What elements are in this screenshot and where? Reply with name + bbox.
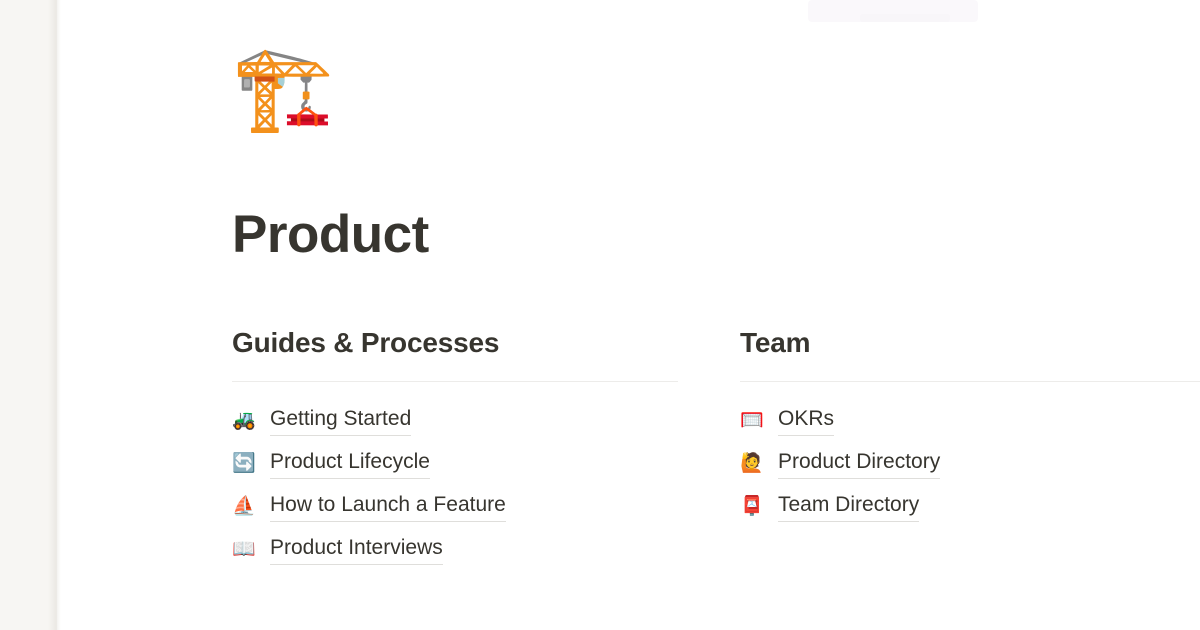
list-item[interactable]: ⛵ How to Launch a Feature xyxy=(232,485,678,528)
page-link-product-directory[interactable]: Product Directory xyxy=(778,448,940,478)
page-link-product-lifecycle[interactable]: Product Lifecycle xyxy=(270,448,430,478)
page-title: Product xyxy=(232,205,429,266)
column-team: Team 🥅 OKRs 🙋 Product Directory 📮 Team D… xyxy=(740,325,1200,528)
list-item[interactable]: 📮 Team Directory xyxy=(740,485,1200,528)
open-book-icon: 📖 xyxy=(232,540,252,559)
building-construction-crane-icon[interactable]: 🏗️ xyxy=(232,48,334,130)
page-link-okrs[interactable]: OKRs xyxy=(778,405,834,435)
counterclockwise-arrows-icon: 🔄 xyxy=(232,454,252,473)
list-item[interactable]: 🙋 Product Directory xyxy=(740,442,1200,485)
tractor-icon: 🚜 xyxy=(232,411,252,430)
column-guides-processes: Guides & Processes 🚜 Getting Started 🔄 P… xyxy=(232,325,678,571)
page-content: 🏗️ Product Guides & Processes 🚜 Getting … xyxy=(232,0,1200,630)
postbox-icon: 📮 xyxy=(740,497,760,516)
goal-net-icon: 🥅 xyxy=(740,411,760,430)
section-heading-guides: Guides & Processes xyxy=(232,325,678,360)
page-link-team-directory[interactable]: Team Directory xyxy=(778,491,919,521)
page-link-how-to-launch-a-feature[interactable]: How to Launch a Feature xyxy=(270,491,506,521)
section-divider-guides xyxy=(232,381,678,382)
list-item[interactable]: 🥅 OKRs xyxy=(740,399,1200,442)
link-list-team: 🥅 OKRs 🙋 Product Directory 📮 Team Direct… xyxy=(740,399,1200,528)
person-raising-hand-icon: 🙋 xyxy=(740,454,760,473)
link-list-guides: 🚜 Getting Started 🔄 Product Lifecycle ⛵ … xyxy=(232,399,678,571)
list-item[interactable]: 🚜 Getting Started xyxy=(232,399,678,442)
list-item[interactable]: 🔄 Product Lifecycle xyxy=(232,442,678,485)
section-heading-team: Team xyxy=(740,325,1200,360)
list-item[interactable]: 📖 Product Interviews xyxy=(232,528,678,571)
section-divider-team xyxy=(740,381,1200,382)
sailboat-icon: ⛵ xyxy=(232,497,252,516)
page-link-product-interviews[interactable]: Product Interviews xyxy=(270,534,443,564)
page-link-getting-started[interactable]: Getting Started xyxy=(270,405,411,435)
collapsed-sidebar[interactable] xyxy=(0,0,57,630)
wiki-page: 🏗️ Product Guides & Processes 🚜 Getting … xyxy=(0,0,1200,630)
